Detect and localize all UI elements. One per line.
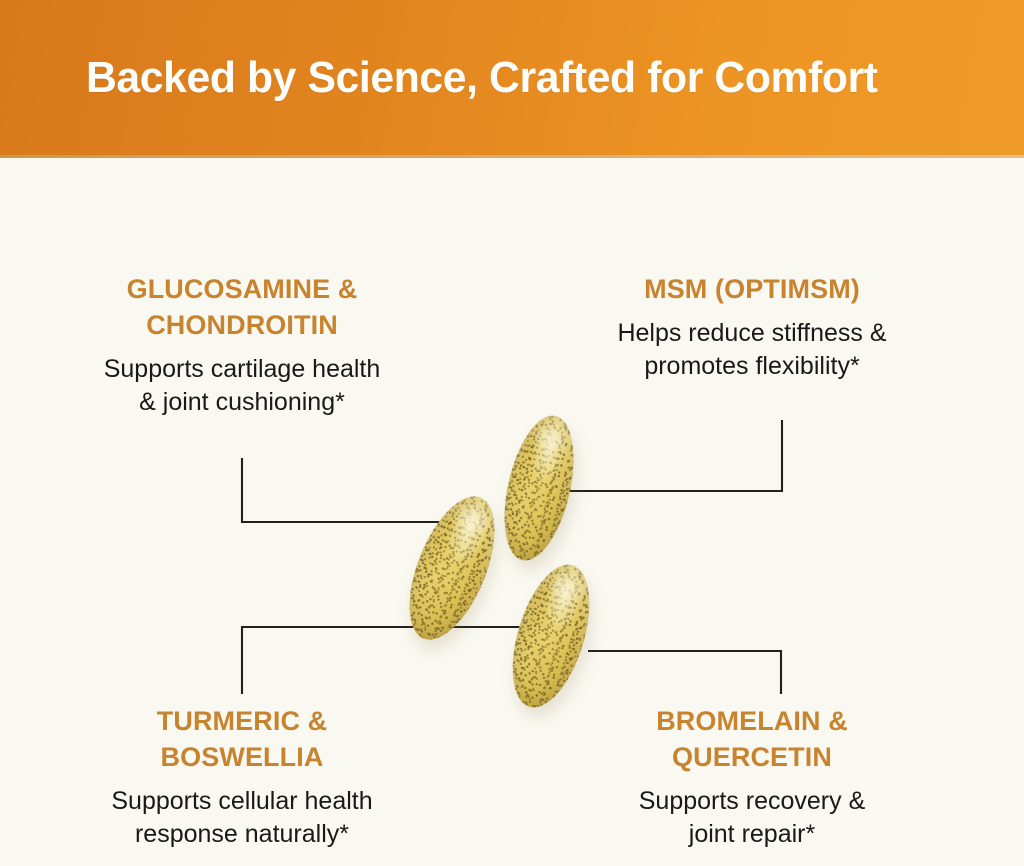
callout-title-msm-optimsm: MSM (OPTIMSM) — [552, 272, 952, 308]
callout-desc-line-1: Supports cartilage health — [104, 355, 381, 383]
callout-title-line-2: QUERCETIN — [672, 742, 832, 772]
callout-title-line-1: BROMELAIN & — [656, 706, 848, 736]
callout-bromelain-quercetin: BROMELAIN & QUERCETIN Supports recovery … — [552, 704, 952, 851]
callout-desc-line-2: & joint cushioning* — [139, 388, 345, 416]
callout-desc-line-1: Helps reduce stiffness & — [617, 319, 886, 347]
callout-description-bromelain-quercetin: Supports recovery & joint repair* — [552, 785, 952, 852]
callout-desc-line-1: Supports cellular health — [111, 787, 372, 815]
callout-desc-line-2: response naturally* — [135, 820, 349, 848]
callout-desc-line-1: Supports recovery & — [639, 787, 866, 815]
callout-title-bromelain-quercetin: BROMELAIN & QUERCETIN — [552, 704, 952, 776]
callout-description-msm-optimsm: Helps reduce stiffness & promotes flexib… — [552, 317, 952, 384]
callout-description-turmeric-boswellia: Supports cellular health response natura… — [42, 785, 442, 852]
callout-title-line-2: CHONDROITIN — [146, 310, 338, 340]
callout-title-line-1: GLUCOSAMINE & — [127, 274, 358, 304]
callout-turmeric-boswellia: TURMERIC & BOSWELLIA Supports cellular h… — [42, 704, 442, 851]
callout-title-line-2: BOSWELLIA — [161, 742, 324, 772]
callout-msm-optimsm: MSM (OPTIMSM) Helps reduce stiffness & p… — [552, 272, 952, 383]
page-title: Backed by Science, Crafted for Comfort — [86, 56, 878, 100]
header-banner: Backed by Science, Crafted for Comfort — [0, 0, 1024, 155]
callout-title-turmeric-boswellia: TURMERIC & BOSWELLIA — [42, 704, 442, 776]
supplement-ingredient-infographic: Backed by Science, Crafted for Comfort G… — [0, 0, 1024, 866]
callout-title-line-1: MSM (OPTIMSM) — [644, 274, 860, 304]
callout-desc-line-2: joint repair* — [689, 820, 815, 848]
callout-glucosamine-chondroitin: GLUCOSAMINE & CHONDROITIN Supports carti… — [42, 272, 442, 419]
callout-title-line-1: TURMERIC & — [157, 706, 328, 736]
callout-title-glucosamine-chondroitin: GLUCOSAMINE & CHONDROITIN — [42, 272, 442, 344]
callout-description-glucosamine-chondroitin: Supports cartilage health & joint cushio… — [42, 353, 442, 420]
callout-desc-line-2: promotes flexibility* — [644, 352, 859, 380]
